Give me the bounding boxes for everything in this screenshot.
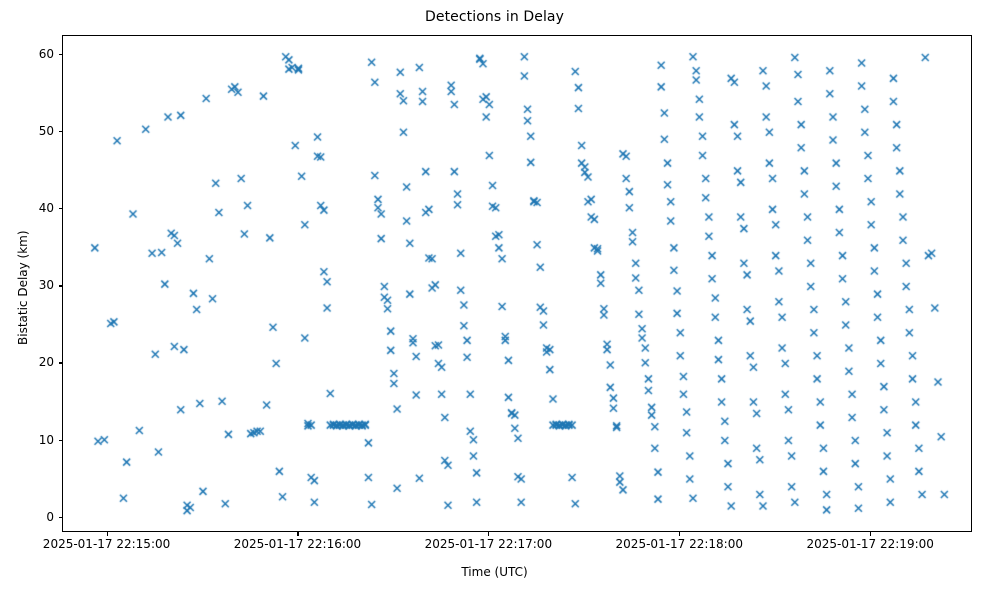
- matplotlib-figure: Detections in Delay Bistatic Delay (km) …: [0, 0, 989, 590]
- x-tick-mark: [297, 532, 298, 536]
- y-tick-label: 40: [4, 201, 54, 215]
- x-tick-mark: [107, 532, 108, 536]
- x-tick-mark: [488, 532, 489, 536]
- x-tick-label: 2025-01-17 22:18:00: [616, 537, 743, 551]
- y-tick-label: 60: [4, 47, 54, 61]
- page-title: Detections in Delay: [0, 9, 989, 25]
- y-tick-label: 30: [4, 278, 54, 292]
- x-tick-label: 2025-01-17 22:15:00: [43, 537, 170, 551]
- y-tick-label: 50: [4, 124, 54, 138]
- x-tick-label: 2025-01-17 22:16:00: [234, 537, 361, 551]
- x-tick-label: 2025-01-17 22:19:00: [806, 537, 933, 551]
- y-tick-label: 10: [4, 433, 54, 447]
- x-tick-label: 2025-01-17 22:17:00: [425, 537, 552, 551]
- y-tick-label: 20: [4, 355, 54, 369]
- plot-area: [62, 35, 972, 532]
- x-tick-mark: [870, 532, 871, 536]
- scatter-points: [63, 36, 972, 532]
- y-tick-label: 0: [4, 510, 54, 524]
- x-axis-label: Time (UTC): [0, 565, 989, 579]
- x-tick-mark: [679, 532, 680, 536]
